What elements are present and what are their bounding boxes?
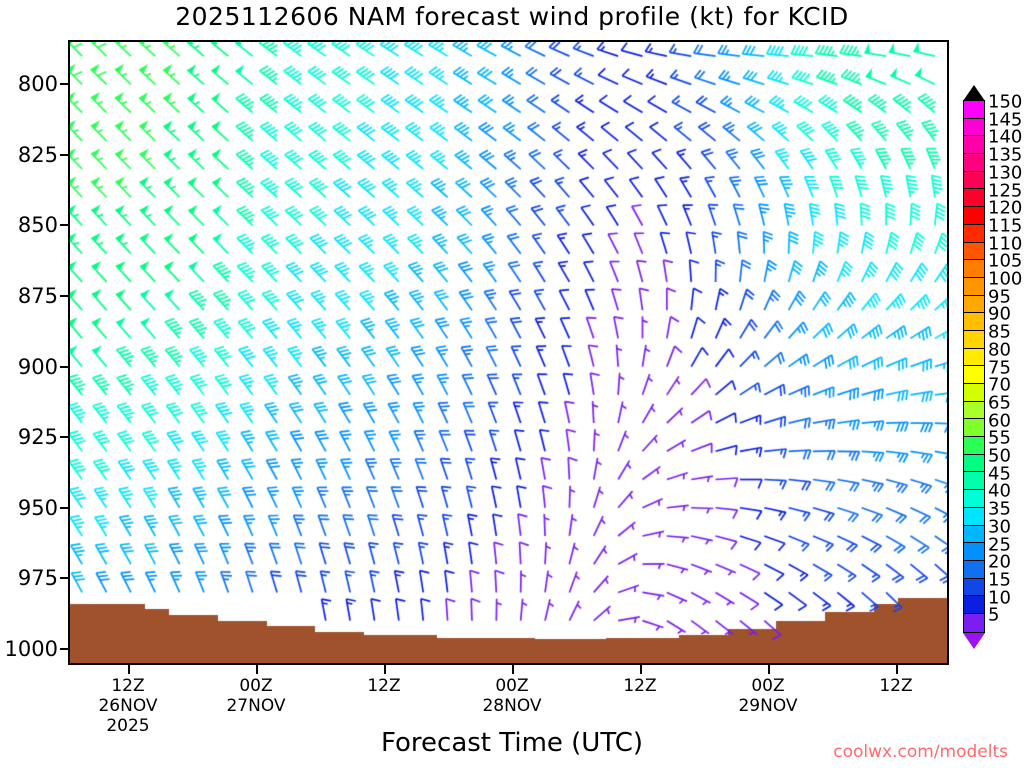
colorbar-cell: [964, 366, 984, 384]
colorbar-cell: [964, 331, 984, 349]
x-tick-time: 00Z: [226, 676, 285, 696]
colorbar-cell: [964, 101, 984, 119]
x-tick-label-group: 00Z29NOV: [738, 676, 797, 716]
colorbar-cell: [964, 243, 984, 261]
y-tick-label: 1000: [5, 637, 58, 661]
colorbar-top-arrow: [963, 85, 985, 101]
colorbar-cell: [964, 349, 984, 367]
x-tick-time: 12Z: [98, 676, 157, 696]
x-tick-mark: [768, 665, 770, 674]
x-tick-date: 29NOV: [738, 696, 797, 716]
y-tick-label: 950: [18, 496, 58, 520]
y-tick-mark: [60, 224, 69, 226]
colorbar-cell: [964, 189, 984, 207]
colorbar-cell: [964, 384, 984, 402]
colorbar-cell: [964, 154, 984, 172]
x-tick-label-group: 00Z27NOV: [226, 676, 285, 716]
y-tick-mark: [60, 507, 69, 509]
y-tick-mark: [60, 366, 69, 368]
colorbar-bottom-arrow: [963, 633, 985, 649]
x-tick-label-group: 12Z: [623, 676, 656, 696]
x-tick-mark: [640, 665, 642, 674]
colorbar-cell: [964, 614, 984, 632]
x-tick-time: 12Z: [367, 676, 400, 696]
y-tick-label: 825: [18, 143, 58, 167]
colorbar-cell: [964, 561, 984, 579]
colorbar-cell: [964, 278, 984, 296]
colorbar-cell: [964, 543, 984, 561]
colorbar-cell: [964, 225, 984, 243]
colorbar-cell: [964, 490, 984, 508]
colorbar-cell: [964, 472, 984, 490]
chart-title: 2025112606 NAM forecast wind profile (kt…: [0, 2, 1024, 31]
watermark: coolwx.com/modelts: [833, 742, 1008, 762]
colorbar-cell: [964, 296, 984, 314]
x-tick-time: 12Z: [623, 676, 656, 696]
x-tick-mark: [896, 665, 898, 674]
colorbar-cell: [964, 136, 984, 154]
x-tick-date: 27NOV: [226, 696, 285, 716]
colorbar-cell: [964, 419, 984, 437]
colorbar-cell: [964, 596, 984, 614]
y-tick-label: 800: [18, 72, 58, 96]
x-tick-date: 26NOV: [98, 696, 157, 716]
x-tick-time: 12Z: [879, 676, 912, 696]
x-tick-label-group: 12Z26NOV2025: [98, 676, 157, 736]
x-tick-mark: [256, 665, 258, 674]
y-tick-label: 850: [18, 213, 58, 237]
x-tick-label-group: 00Z28NOV: [482, 676, 541, 716]
colorbar-cell: [964, 313, 984, 331]
colorbar-cell: [964, 437, 984, 455]
colorbar-cell: [964, 455, 984, 473]
x-tick-mark: [128, 665, 130, 674]
y-tick-mark: [60, 83, 69, 85]
colorbar-cell: [964, 172, 984, 190]
x-tick-date: 28NOV: [482, 696, 541, 716]
x-tick-time: 00Z: [738, 676, 797, 696]
colorbar-labels: 1501451401351301251201151101051009590858…: [988, 100, 1024, 640]
y-tick-mark: [60, 295, 69, 297]
colorbar: [963, 100, 985, 633]
x-tick-label-group: 12Z: [367, 676, 400, 696]
colorbar-cell: [964, 579, 984, 597]
x-tick-time: 00Z: [482, 676, 541, 696]
x-tick-mark: [512, 665, 514, 674]
plot-area: [68, 40, 949, 665]
colorbar-cell: [964, 207, 984, 225]
colorbar-cell: [964, 526, 984, 544]
y-tick-mark: [60, 648, 69, 650]
colorbar-cell: [964, 260, 984, 278]
y-tick-label: 975: [18, 566, 58, 590]
y-tick-mark: [60, 154, 69, 156]
x-tick-label-group: 12Z: [879, 676, 912, 696]
y-tick-label: 925: [18, 425, 58, 449]
y-axis-labels: 8008258508759009259509751000: [0, 0, 58, 768]
colorbar-cell: [964, 119, 984, 137]
colorbar-cell: [964, 508, 984, 526]
wind-profile-chart: 2025112606 NAM forecast wind profile (kt…: [0, 0, 1024, 768]
colorbar-label: 5: [988, 605, 999, 626]
y-tick-mark: [60, 577, 69, 579]
y-tick-mark: [60, 436, 69, 438]
y-tick-label: 900: [18, 355, 58, 379]
x-tick-mark: [384, 665, 386, 674]
y-tick-label: 875: [18, 284, 58, 308]
wind-barb-layer: [70, 42, 947, 663]
colorbar-cell: [964, 402, 984, 420]
